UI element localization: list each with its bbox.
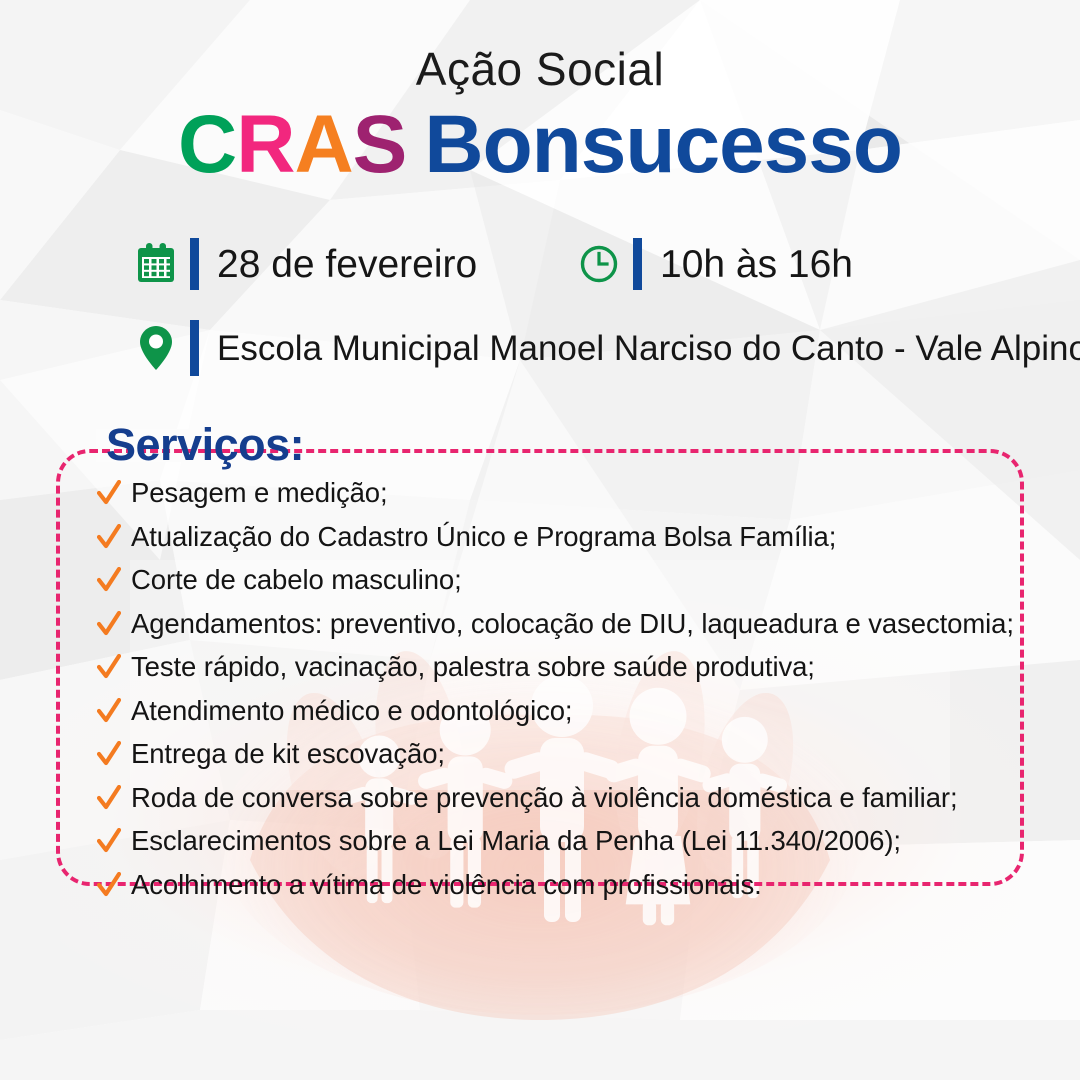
service-item: Agendamentos: preventivo, colocação de D… [96, 609, 1026, 641]
title-letter-c: C [178, 99, 236, 190]
check-icon [96, 739, 122, 769]
service-item-label: Corte de cabelo masculino; [131, 565, 462, 595]
check-icon [96, 478, 122, 508]
service-item-label: Atendimento médico e odontológico; [131, 696, 572, 726]
poster-title: CRASBonsucesso [0, 104, 1080, 186]
service-item-label: Esclarecimentos sobre a Lei Maria da Pen… [131, 826, 901, 856]
check-icon [96, 826, 122, 856]
title-letter-s: S [353, 99, 407, 190]
service-item: Pesagem e medição; [96, 478, 1026, 510]
check-icon [96, 783, 122, 813]
title-letter-r: R [236, 99, 294, 190]
services-heading: Serviços: [96, 421, 318, 468]
service-item: Acolhimento a vítima de violência com pr… [96, 870, 1026, 902]
footer: PREFEITURA TERESÓPOLIS Saúde Assistência… [0, 930, 1080, 1080]
check-icon [96, 609, 122, 639]
service-item-label: Pesagem e medição; [131, 478, 388, 508]
blue-divider-bar [190, 320, 199, 376]
service-item-label: Atualização do Cadastro Único e Programa… [131, 522, 836, 552]
check-icon [96, 696, 122, 726]
service-item: Corte de cabelo masculino; [96, 565, 1026, 597]
service-item-label: Roda de conversa sobre prevenção à violê… [131, 783, 957, 813]
service-item: Esclarecimentos sobre a Lei Maria da Pen… [96, 826, 1026, 858]
info-row-date: 28 de fevereiro [134, 238, 477, 290]
service-item: Atendimento médico e odontológico; [96, 696, 1026, 728]
location-pin-icon [134, 325, 178, 371]
service-item: Roda de conversa sobre prevenção à violê… [96, 783, 1026, 815]
event-date: 28 de fevereiro [217, 245, 477, 284]
title-letter-a: A [294, 99, 352, 190]
event-location: Escola Municipal Manoel Narciso do Canto… [217, 331, 1080, 366]
services-list: Pesagem e medição;Atualização do Cadastr… [96, 478, 1026, 913]
check-icon [96, 522, 122, 552]
calendar-icon [134, 241, 178, 287]
poster-canvas: Ação Social CRASBonsucesso [0, 0, 1080, 1080]
event-time: 10h às 16h [660, 245, 853, 284]
service-item: Atualização do Cadastro Único e Programa… [96, 522, 1026, 554]
service-item-label: Acolhimento a vítima de violência com pr… [131, 870, 762, 900]
service-item-label: Teste rápido, vacinação, palestra sobre … [131, 652, 815, 682]
blue-divider-bar [190, 238, 199, 290]
service-item: Teste rápido, vacinação, palestra sobre … [96, 652, 1026, 684]
info-row-time: 10h às 16h [577, 238, 853, 290]
title-bonsucesso: Bonsucesso [424, 99, 902, 190]
service-item: Entrega de kit escovação; [96, 739, 1026, 771]
poster-subtitle: Ação Social [0, 46, 1080, 92]
check-icon [96, 870, 122, 900]
check-icon [96, 565, 122, 595]
info-row-location: Escola Municipal Manoel Narciso do Canto… [134, 320, 1080, 376]
service-item-label: Entrega de kit escovação; [131, 739, 445, 769]
service-item-label: Agendamentos: preventivo, colocação de D… [131, 609, 1014, 639]
blue-divider-bar [633, 238, 642, 290]
title-cras-acronym: CRAS [178, 99, 406, 190]
check-icon [96, 652, 122, 682]
clock-icon [577, 241, 621, 287]
